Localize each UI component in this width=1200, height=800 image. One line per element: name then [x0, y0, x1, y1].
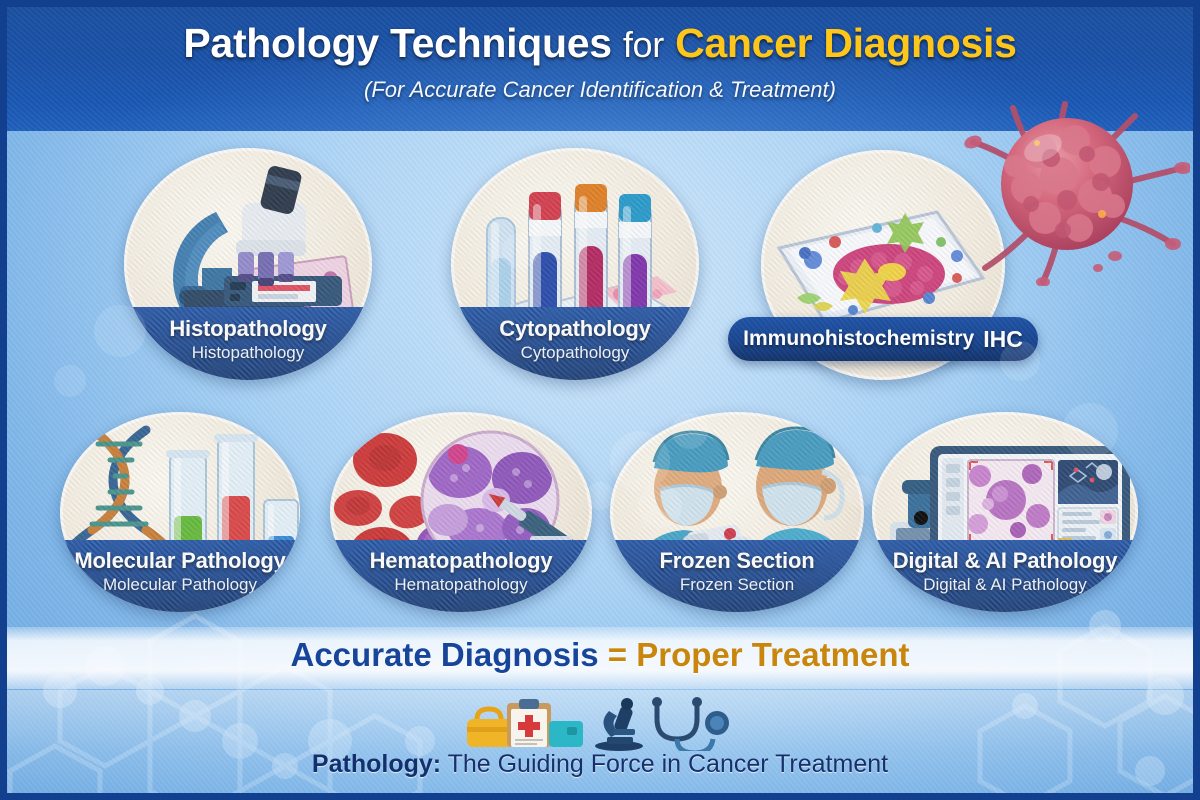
- blood-cells-smear-icon: [330, 412, 592, 612]
- monitor-scanner-icon: [872, 412, 1138, 612]
- infographic-poster: Pathology Techniques for Cancer Diagnosi…: [0, 0, 1200, 800]
- stethoscope-icon: [652, 697, 729, 751]
- card-medallion: Digital & AI Pathology Digital & AI Path…: [872, 412, 1138, 612]
- tagline-accurate: Accurate Diagnosis: [291, 636, 599, 673]
- card-label-band: Cytopathology Cytopathology: [451, 307, 699, 380]
- microscope-icon: [595, 698, 643, 751]
- tagline-proper: = Proper Treatment: [608, 636, 910, 673]
- card-title: Frozen Section: [610, 548, 864, 574]
- tagline: Accurate Diagnosis = Proper Treatment: [0, 636, 1200, 674]
- title-part-one: Pathology Techniques: [183, 20, 611, 66]
- card-medallion: Hematopathology Hematopathology: [330, 412, 592, 612]
- card-subtitle: Digital & AI Pathology: [872, 575, 1138, 595]
- card-medallion: Frozen Section Frozen Section: [610, 412, 864, 612]
- title-part-two: Cancer Diagnosis: [675, 20, 1017, 66]
- footer-text: Pathology: The Guiding Force in Cancer T…: [0, 750, 1200, 779]
- clipboard-red-cross-icon: [507, 699, 551, 747]
- microscope-slide-icon: [124, 148, 372, 380]
- card-label-band: Histopathology Histopathology: [124, 307, 372, 380]
- dna-helix-tubes-icon: [60, 412, 300, 612]
- card-title: Digital & AI Pathology: [872, 548, 1138, 574]
- footer-label: Pathology:: [312, 750, 441, 778]
- footer-tagline: The Guiding Force in Cancer Treatment: [441, 750, 888, 778]
- card-title: Molecular Pathology: [60, 548, 300, 574]
- card-digital-ai-pathology[interactable]: Digital & AI Pathology Digital & AI Path…: [872, 412, 1138, 612]
- first-aid-case-icon: [549, 721, 583, 747]
- card-medallion: Cytopathology Cytopathology: [451, 148, 699, 380]
- card-subtitle: Frozen Section: [610, 575, 864, 595]
- card-subtitle: IHC: [983, 326, 1023, 353]
- card-title: Hematopathology: [330, 548, 592, 574]
- card-medallion: Molecular Pathology Molecular Pathology: [60, 412, 300, 612]
- card-hematopathology[interactable]: Hematopathology Hematopathology: [330, 412, 592, 612]
- cancer-cell-illustration: [955, 96, 1190, 286]
- card-subtitle: Cytopathology: [451, 343, 699, 363]
- card-label-band: Hematopathology Hematopathology: [330, 540, 592, 612]
- page-title: Pathology Techniques for Cancer Diagnosi…: [0, 20, 1200, 67]
- card-title: Cytopathology: [451, 316, 699, 342]
- medical-bag-icon: [467, 709, 513, 747]
- card-label-pill: Immunohistochemistry IHC: [728, 317, 1038, 361]
- surgeons-specimen-icon: [610, 412, 864, 612]
- card-title: Histopathology: [124, 316, 372, 342]
- card-medallion: Histopathology Histopathology: [124, 148, 372, 380]
- card-label-band: Digital & AI Pathology Digital & AI Path…: [872, 540, 1138, 612]
- card-histopathology[interactable]: Histopathology Histopathology: [124, 148, 372, 380]
- card-cytopathology[interactable]: Cytopathology Cytopathology: [451, 148, 699, 380]
- card-molecular-pathology[interactable]: Molecular Pathology Molecular Pathology: [60, 412, 300, 612]
- card-frozen-section[interactable]: Frozen Section Frozen Section: [610, 412, 864, 612]
- card-title: Immunohistochemistry: [743, 327, 974, 351]
- title-for: for: [623, 24, 664, 65]
- card-subtitle: Molecular Pathology: [60, 575, 300, 595]
- card-label-band: Frozen Section Frozen Section: [610, 540, 864, 612]
- footer-icon-strip: [463, 697, 737, 751]
- card-subtitle: Histopathology: [124, 343, 372, 363]
- test-tubes-slide-icon: [451, 148, 699, 380]
- card-label-band: Molecular Pathology Molecular Pathology: [60, 540, 300, 612]
- card-subtitle: Hematopathology: [330, 575, 592, 595]
